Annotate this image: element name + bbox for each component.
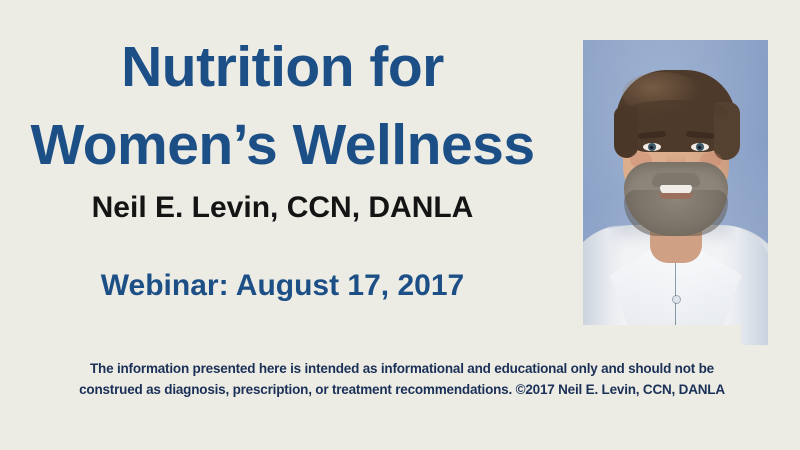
photo-hair-fringe [624, 100, 728, 122]
photo-shirt-button [673, 296, 680, 303]
disclaimer-text: The information presented here is intend… [52, 358, 752, 400]
slide-title-line-2: Women’s Wellness [0, 106, 565, 184]
photo-bottom-notch [583, 325, 741, 347]
photo-eye-left [643, 143, 661, 151]
webinar-date-line: Webinar: August 17, 2017 [0, 268, 565, 304]
presenter-name: Neil E. Levin, CCN, DANLA [0, 190, 565, 226]
photo-iris-left [648, 143, 656, 151]
photo-iris-right [696, 143, 704, 151]
disclaimer-line-2: construed as diagnosis, prescription, or… [52, 379, 752, 400]
photo-lower-lip [659, 193, 693, 199]
presentation-slide: Nutrition for Women’s Wellness Neil E. L… [0, 0, 800, 450]
photo-eye-right [691, 143, 709, 151]
disclaimer-line-1: The information presented here is intend… [52, 358, 752, 379]
presenter-photo [583, 40, 768, 345]
slide-title-line-1: Nutrition for [0, 28, 565, 106]
slide-text-column: Nutrition for Women’s Wellness Neil E. L… [0, 0, 565, 340]
slide-title: Nutrition for Women’s Wellness [0, 28, 565, 184]
